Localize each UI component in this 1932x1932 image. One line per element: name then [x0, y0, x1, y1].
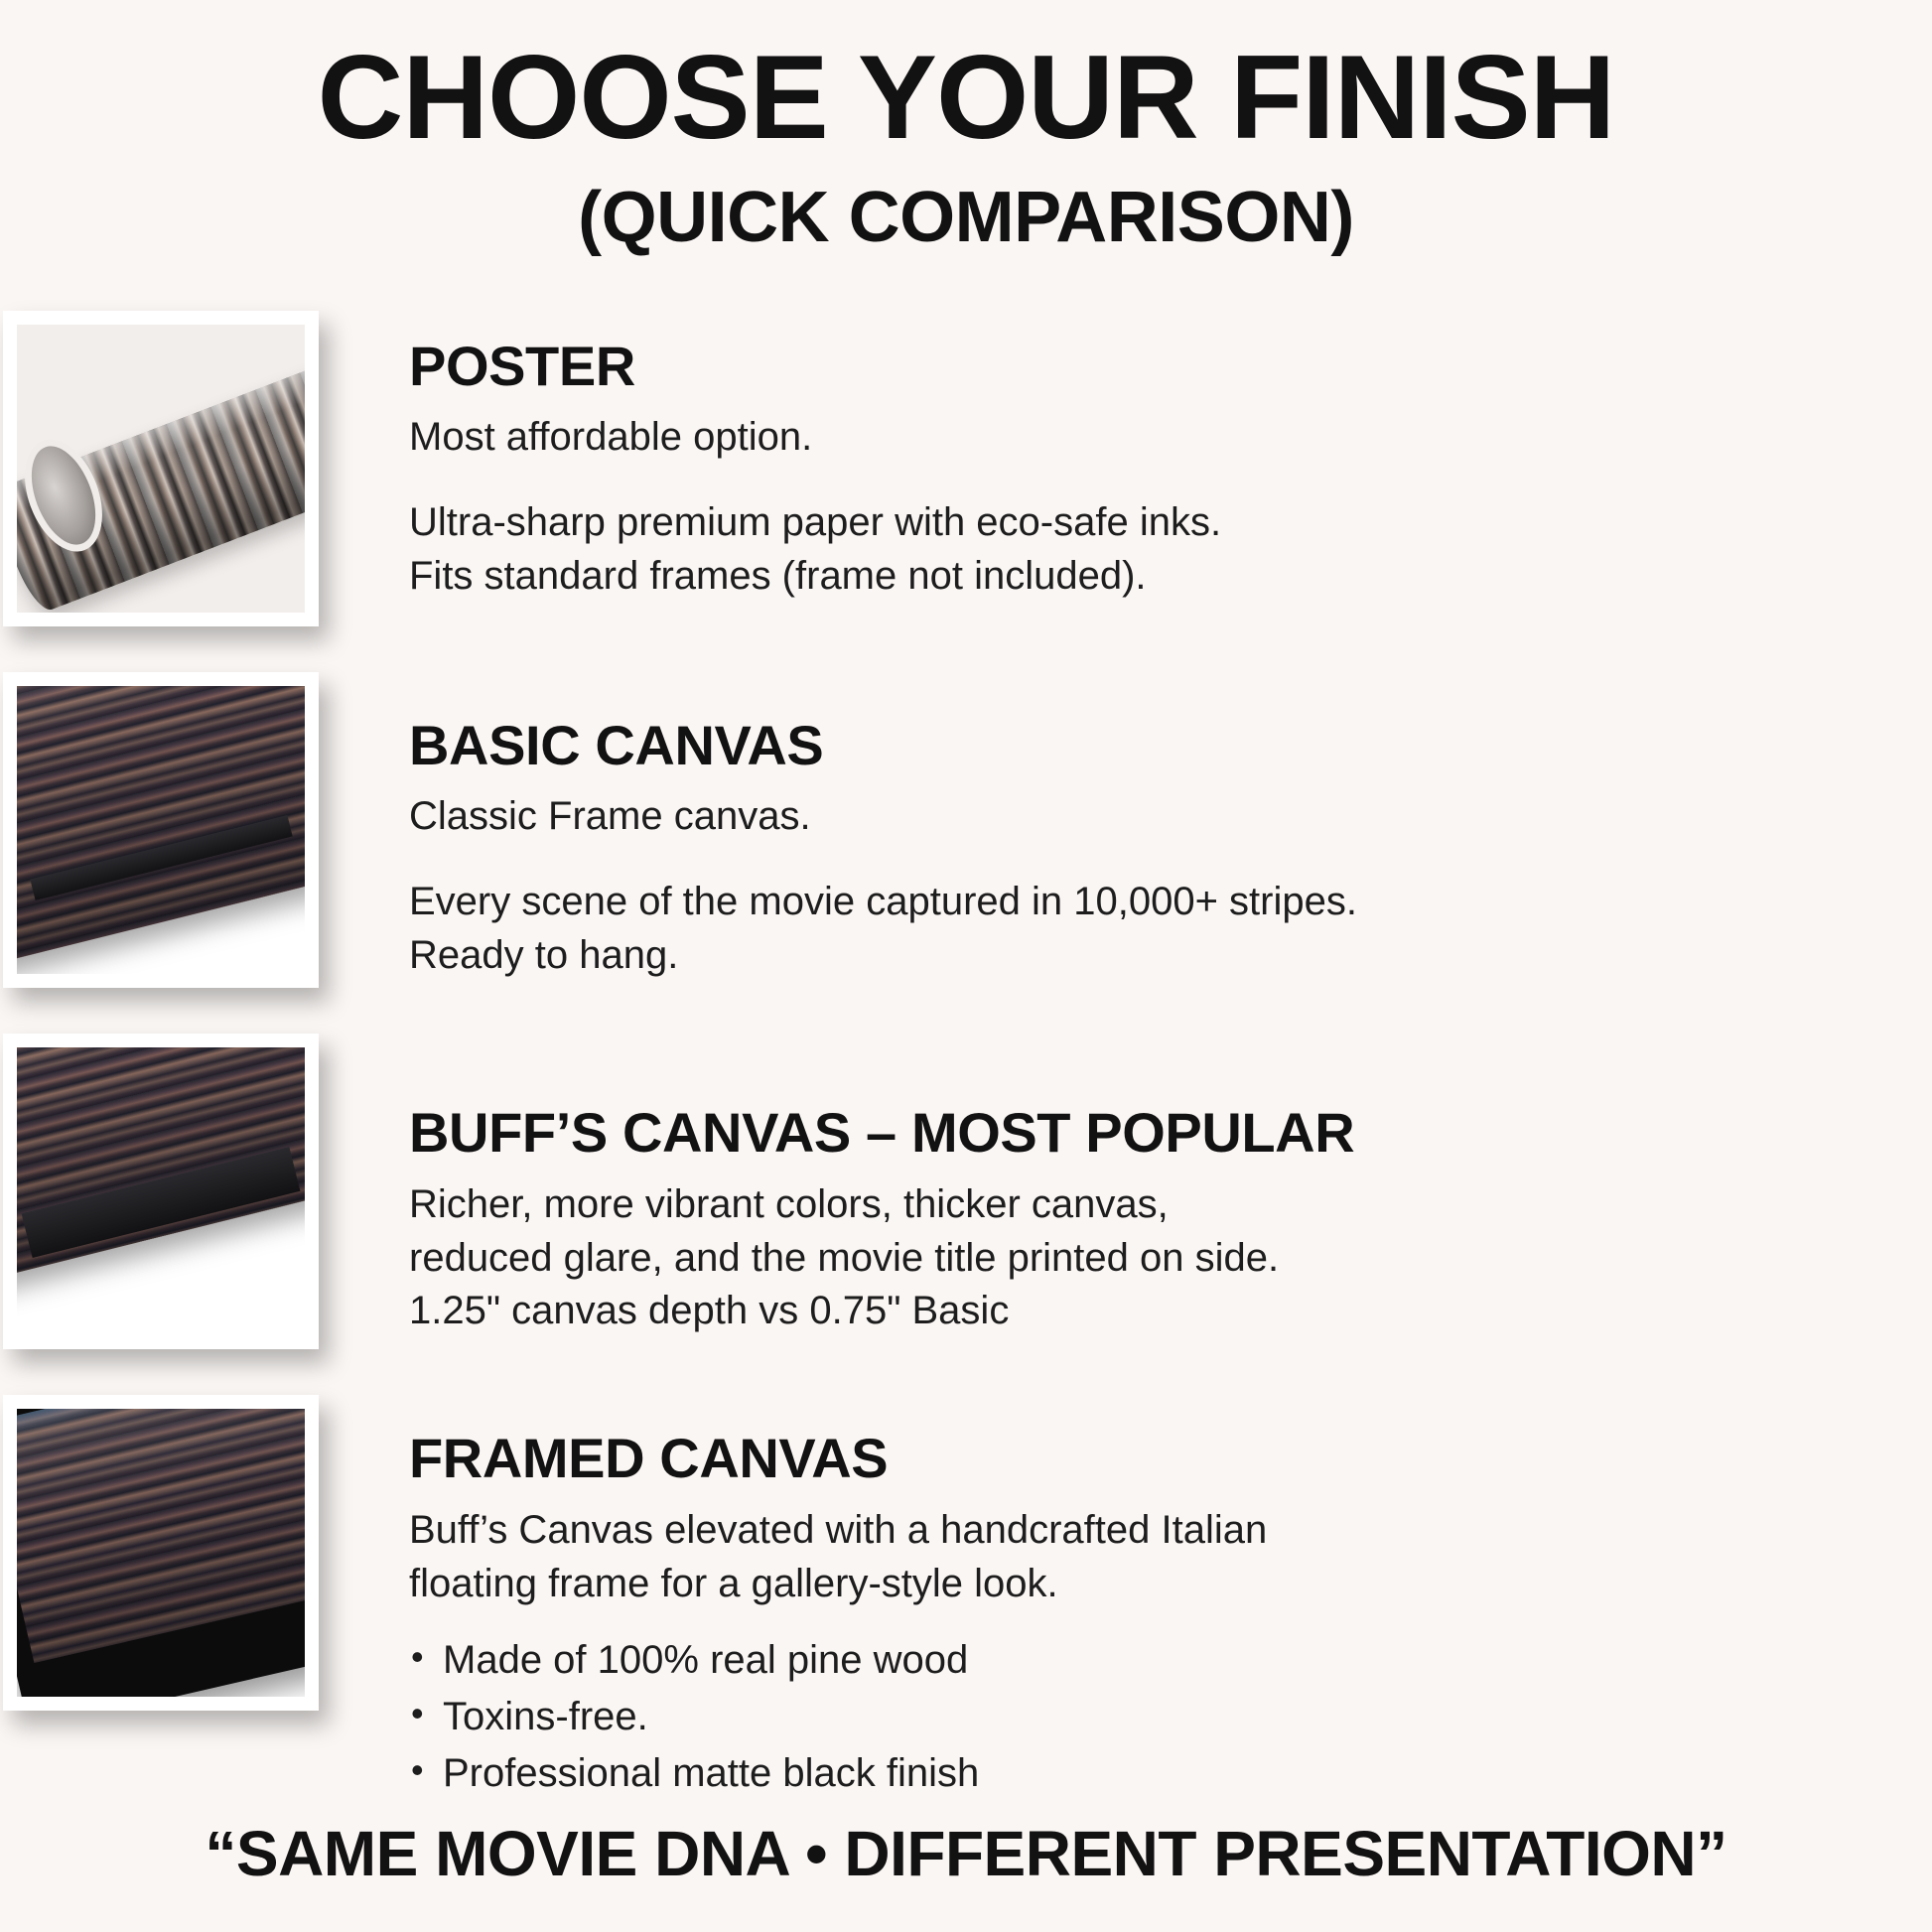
product-row-buffs-canvas: BUFF’S CANVAS – MOST POPULAR Richer, mor… — [0, 1034, 1932, 1349]
product-text-poster: POSTER Most affordable option. Ultra-sha… — [322, 311, 1932, 604]
page-title: CHOOSE YOUR FINISH — [0, 34, 1932, 163]
feature-bullet-list: Made of 100% real pine wood Toxins-free.… — [409, 1632, 1892, 1801]
product-body: Every scene of the movie captured in 10,… — [409, 876, 1892, 982]
body-line: Every scene of the movie captured in 10,… — [409, 876, 1892, 929]
framed-canvas-illustration — [17, 1409, 305, 1697]
footer: “SAME MOVIE DNA • DIFFERENT PRESENTATION… — [0, 1817, 1932, 1890]
product-title: POSTER — [409, 337, 1892, 396]
page-subtitle: (QUICK COMPARISON) — [0, 179, 1932, 257]
basic-canvas-illustration — [17, 686, 305, 974]
poster-photo — [17, 325, 305, 613]
product-image-framed-canvas — [3, 1395, 319, 1711]
product-text-basic-canvas: BASIC CANVAS Classic Frame canvas. Every… — [322, 672, 1932, 983]
product-comparison-list: POSTER Most affordable option. Ultra-sha… — [0, 311, 1932, 1802]
thumbnail-wrap-basic-canvas — [0, 672, 322, 988]
body-line: floating frame for a gallery-style look. — [409, 1558, 1892, 1611]
product-lead: Most affordable option. — [409, 412, 1892, 463]
body-line: Ultra-sharp premium paper with eco-safe … — [409, 496, 1892, 550]
product-body: Buff’s Canvas elevated with a handcrafte… — [409, 1504, 1892, 1610]
product-title: FRAMED CANVAS — [409, 1429, 1892, 1488]
thumbnail-wrap-poster — [0, 311, 322, 626]
header: CHOOSE YOUR FINISH (QUICK COMPARISON) — [0, 0, 1932, 257]
list-item: Toxins-free. — [409, 1689, 1892, 1745]
product-text-buffs-canvas: BUFF’S CANVAS – MOST POPULAR Richer, mor… — [322, 1034, 1932, 1338]
product-image-buffs-canvas — [3, 1034, 319, 1349]
basic-canvas-photo — [17, 686, 305, 974]
body-line: reduced glare, and the movie title print… — [409, 1232, 1892, 1286]
product-row-framed-canvas: FRAMED CANVAS Buff’s Canvas elevated wit… — [0, 1395, 1932, 1802]
footer-tagline: “SAME MOVIE DNA • DIFFERENT PRESENTATION… — [0, 1817, 1932, 1890]
thumbnail-wrap-buffs-canvas — [0, 1034, 322, 1349]
product-body: Richer, more vibrant colors, thicker can… — [409, 1178, 1892, 1338]
product-title: BASIC CANVAS — [409, 716, 1892, 775]
body-line: Buff’s Canvas elevated with a handcrafte… — [409, 1504, 1892, 1558]
infographic-page: CHOOSE YOUR FINISH (QUICK COMPARISON) — [0, 0, 1932, 1932]
list-item: Professional matte black finish — [409, 1745, 1892, 1802]
product-lead: Classic Frame canvas. — [409, 791, 1892, 842]
body-line: Richer, more vibrant colors, thicker can… — [409, 1178, 1892, 1232]
list-item: Made of 100% real pine wood — [409, 1632, 1892, 1689]
body-line: 1.25" canvas depth vs 0.75" Basic — [409, 1285, 1892, 1338]
thumbnail-wrap-framed-canvas — [0, 1395, 322, 1711]
body-line: Ready to hang. — [409, 929, 1892, 983]
product-image-basic-canvas — [3, 672, 319, 988]
framed-canvas-photo — [17, 1409, 305, 1697]
body-line: Fits standard frames (frame not included… — [409, 550, 1892, 604]
product-row-poster: POSTER Most affordable option. Ultra-sha… — [0, 311, 1932, 626]
buffs-canvas-photo — [17, 1047, 305, 1335]
product-body: Ultra-sharp premium paper with eco-safe … — [409, 496, 1892, 603]
product-title: BUFF’S CANVAS – MOST POPULAR — [409, 1103, 1892, 1163]
product-image-poster — [3, 311, 319, 626]
poster-roll-illustration — [17, 325, 305, 613]
buffs-canvas-illustration — [17, 1047, 305, 1335]
product-row-basic-canvas: BASIC CANVAS Classic Frame canvas. Every… — [0, 672, 1932, 988]
product-text-framed-canvas: FRAMED CANVAS Buff’s Canvas elevated wit… — [322, 1395, 1932, 1802]
